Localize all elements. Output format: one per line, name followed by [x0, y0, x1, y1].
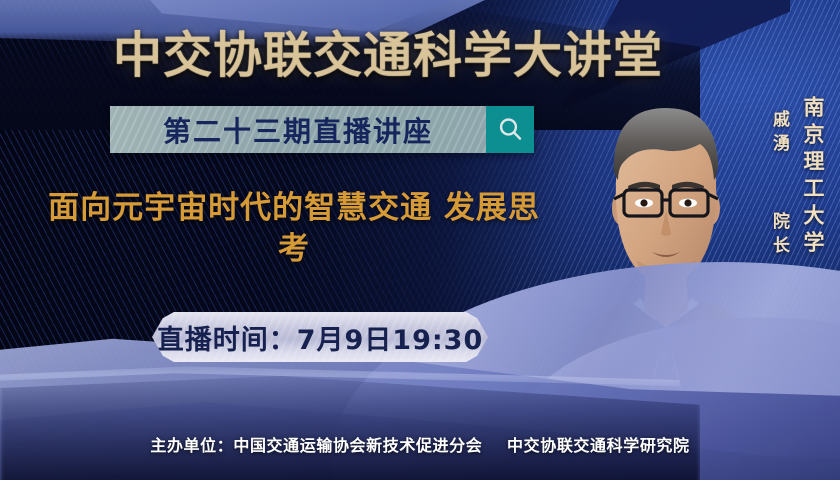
webinar-poster: 中交协联交通科学大讲堂 第二十三期直播讲座 面向元宇宙时代的智慧交通 发展思考 … [0, 0, 840, 480]
speaker-portrait-illustration [566, 78, 766, 408]
session-banner-body: 第二十三期直播讲座 [110, 106, 486, 153]
speaker-portrait [566, 78, 766, 408]
speaker-organization: 南京理工大学 [798, 96, 828, 258]
pupil-right [684, 199, 691, 206]
session-banner: 第二十三期直播讲座 [110, 106, 534, 153]
lecture-topic: 面向元宇宙时代的智慧交通 发展思考 [34, 188, 554, 270]
search-icon[interactable] [486, 106, 534, 153]
speaker-name-title: 戚湧 院长 [767, 110, 792, 260]
session-banner-label: 第二十三期直播讲座 [163, 110, 433, 150]
broadcast-time-badge: 直播时间：7月9日19:30 [152, 311, 488, 363]
broadcast-time-label: 直播时间：7月9日19:30 [157, 318, 484, 357]
organizers-footer: 主办单位：中国交通运输协会新技术促进分会 中交协联交通科学研究院 [0, 432, 840, 456]
page-title: 中交协联交通科学大讲堂 [0, 16, 840, 87]
search-icon-glyph [497, 116, 524, 143]
page-title-text: 中交协联交通科学大讲堂 [113, 27, 663, 84]
pupil-left [640, 199, 647, 206]
